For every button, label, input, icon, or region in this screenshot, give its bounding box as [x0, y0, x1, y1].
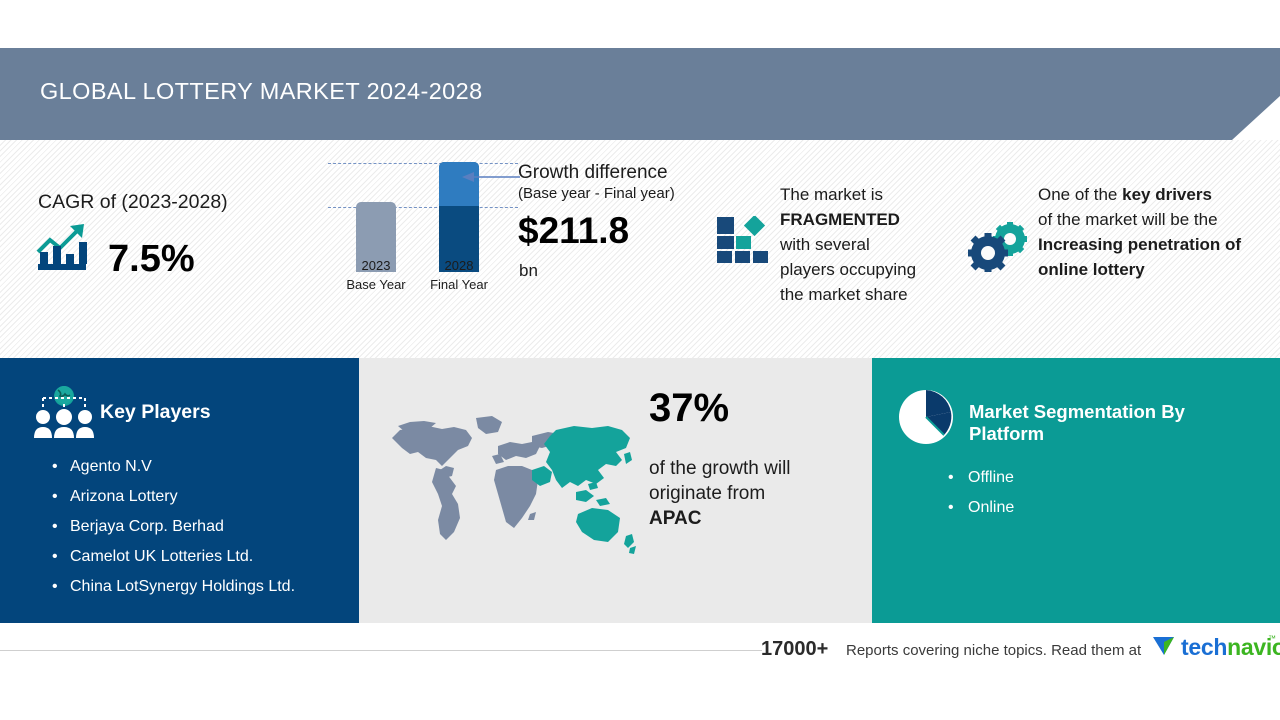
bar-label-base-year: 2023 Base Year	[346, 257, 406, 295]
segmentation-title: Market Segmentation By Platform	[969, 401, 1219, 445]
mosaic-squares-icon	[716, 216, 771, 269]
list-item: Berjaya Corp. Berhad	[52, 512, 295, 542]
list-item: Camelot UK Lotteries Ltd.	[52, 542, 295, 572]
cagr-value: 7.5%	[108, 240, 195, 278]
gears-icon	[968, 222, 1030, 277]
bar-label-final-year: 2028 Final Year	[429, 257, 489, 295]
technavio-arrow-icon	[1152, 634, 1178, 663]
key-players-title: Key Players	[100, 401, 211, 424]
list-item: Online	[948, 493, 1014, 523]
world-map-icon	[380, 408, 640, 563]
footer-divider	[0, 650, 762, 651]
fragmented-text: The market is FRAGMENTED with several pl…	[780, 182, 950, 307]
bar-chart-growth-icon	[36, 222, 96, 277]
key-players-list: Agento N.V Arizona Lottery Berjaya Corp.…	[52, 452, 295, 602]
left-arrow-icon	[462, 170, 520, 188]
growth-difference-unit: bn	[519, 261, 538, 281]
page-title: GLOBAL LOTTERY MARKET 2024-2028	[40, 78, 483, 105]
growth-difference-title: Growth difference	[518, 162, 668, 184]
growth-difference-value: $211.8	[518, 211, 629, 252]
key-drivers-text: One of the key drivers of the market wil…	[1038, 182, 1256, 282]
infographic-page: GLOBAL LOTTERY MARKET 2024-2028 CAGR of …	[0, 0, 1280, 720]
segmentation-list: Offline Online	[948, 463, 1014, 523]
header-banner: GLOBAL LOTTERY MARKET 2024-2028	[0, 48, 1280, 140]
list-item: Arizona Lottery	[52, 482, 295, 512]
apac-description: of the growth will originate from APAC	[649, 456, 839, 531]
trademark-symbol: ™	[1268, 634, 1276, 643]
apac-percentage: 37%	[649, 388, 729, 428]
pie-chart-icon	[897, 388, 955, 451]
report-count: 17000+	[761, 638, 828, 661]
growth-difference-subtitle: (Base year - Final year)	[518, 185, 675, 202]
list-item: China LotSynergy Holdings Ltd.	[52, 572, 295, 602]
gridline-top	[328, 163, 518, 164]
technavio-wordmark: technavio	[1181, 634, 1280, 661]
globe-network-people-icon	[33, 384, 95, 445]
cagr-label: CAGR of (2023-2028)	[38, 191, 228, 214]
footer-tagline: Reports covering niche topics. Read them…	[846, 642, 1141, 659]
list-item: Agento N.V	[52, 452, 295, 482]
list-item: Offline	[948, 463, 1014, 493]
